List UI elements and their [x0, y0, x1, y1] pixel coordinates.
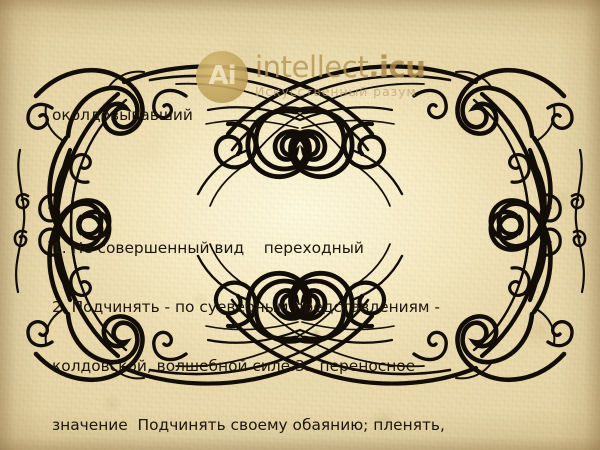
dictionary-entry-text: околдовывавший 1. Не совершенный вид пер… [52, 66, 552, 450]
entry-headword: околдовывавший [52, 105, 552, 125]
sense-line: колдовской, волшебной силе.3. переносное [52, 357, 552, 377]
sense-line: значение Подчинять своему обаянию; пленя… [52, 416, 552, 436]
entry-senses: 1. Не совершенный вид переходный 2. Подч… [52, 200, 552, 450]
dictionary-card: Ai intellect.icu Искусственный разум око… [0, 0, 600, 450]
side-rule-right [572, 150, 585, 292]
sense-line: 1. Не совершенный вид переходный [52, 239, 552, 259]
side-rule-left [15, 150, 28, 292]
sense-line: 2. Подчинять - по суеверным представлени… [52, 298, 552, 318]
